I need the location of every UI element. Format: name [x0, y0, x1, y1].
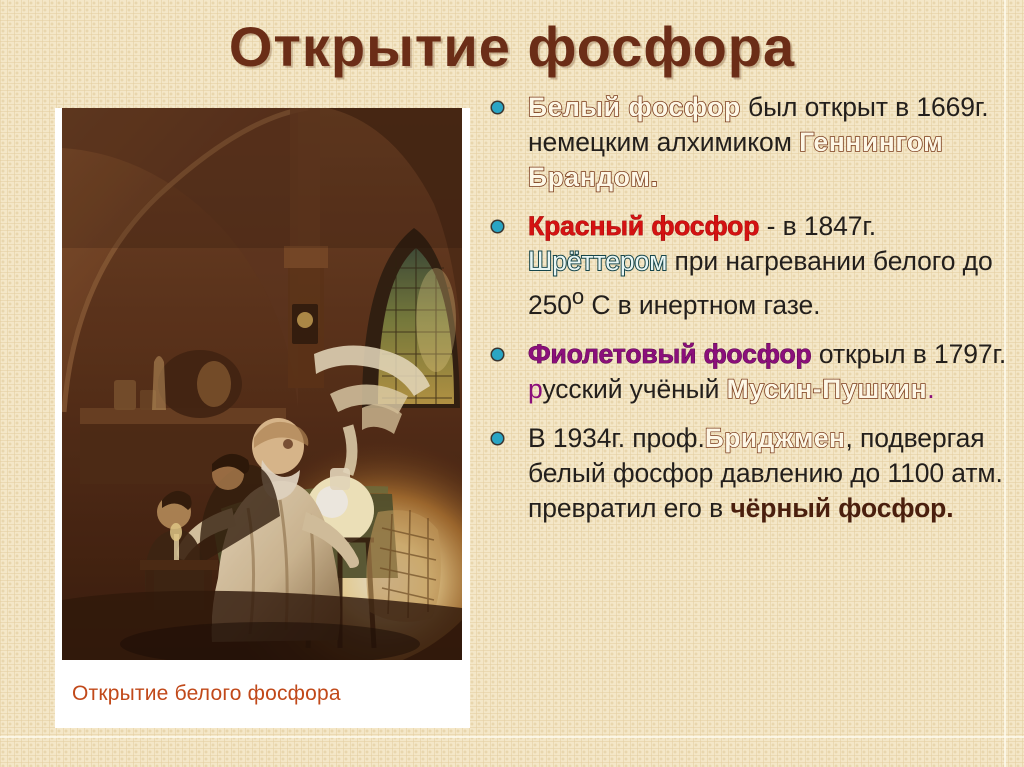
page-title: Открытие фосфора [0, 14, 1024, 79]
bullet-run: - в 1847г. [759, 211, 876, 241]
bullet-run: Бриджмен [705, 423, 846, 453]
image-caption: Открытие белого фосфора [55, 660, 470, 728]
list-item: Фиолетовый фосфор открыл в 1797г. русски… [482, 337, 1020, 407]
bullet-run-degree: о [572, 284, 584, 309]
bullet-dot-icon [492, 349, 503, 360]
list-item: Красный фосфор - в 1847г. Шрёттером при … [482, 209, 1020, 323]
bullet-run: Шрёттером [528, 246, 667, 276]
bullet-run: Красный фосфор [528, 211, 759, 241]
bullet-dot-icon [492, 221, 503, 232]
bullet-run: р [528, 374, 542, 404]
bullet-run: чёрный фосфор. [730, 493, 953, 523]
slide-canvas: Открытие фосфора [0, 0, 1024, 767]
image-caption-text: Открытие белого фосфора [55, 682, 341, 706]
list-item: В 1934г. проф.Бриджмен, подвергая белый … [482, 421, 1020, 526]
bullet-run: С в инертном газе. [584, 290, 820, 320]
bullet-run: В 1934г. проф. [528, 423, 705, 453]
bottom-edge-rule [0, 736, 1024, 738]
bullet-run: открыл в 1797г. [812, 339, 1006, 369]
picture-card: Открытие белого фосфора [55, 108, 470, 728]
content-bullet-list: Белый фосфор был открыт в 1669г. немецки… [482, 90, 1020, 540]
list-item: Белый фосфор был открыт в 1669г. немецки… [482, 90, 1020, 195]
bullet-dot-icon [492, 433, 503, 444]
bullet-dot-icon [492, 102, 503, 113]
bullet-run: Фиолетовый фосфор [528, 339, 812, 369]
bullet-run: усский учёный [542, 374, 726, 404]
bullet-run: Мусин-Пушкин [727, 374, 928, 404]
bullet-run: Белый фосфор [528, 92, 741, 122]
painting-image [62, 108, 462, 660]
bullet-run: . [927, 374, 934, 404]
